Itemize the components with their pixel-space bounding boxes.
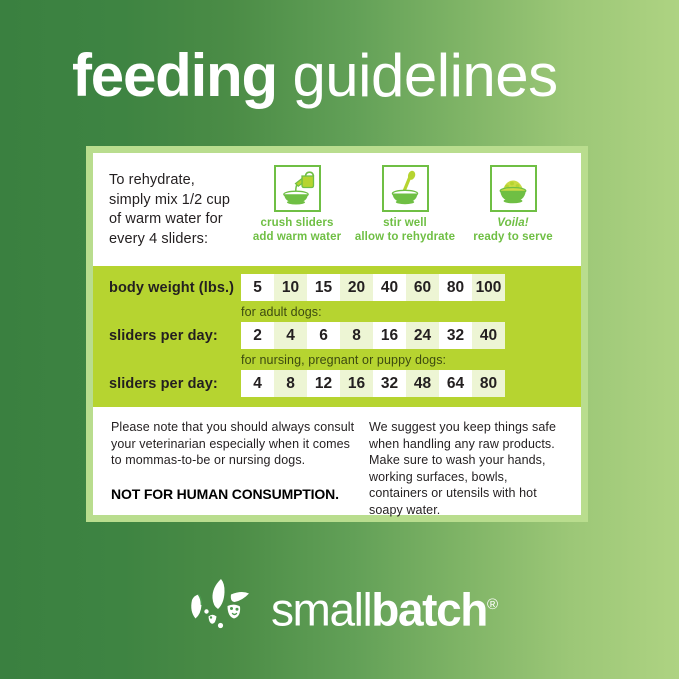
table-cell: 2 <box>241 322 274 349</box>
table-cell: 80 <box>439 274 472 301</box>
footer-left-column: Please note that you should always consu… <box>111 419 369 505</box>
safety-note: We suggest you keep things safe when han… <box>369 419 567 518</box>
table-cell: 48 <box>406 370 439 397</box>
step-1-caption: crush sliders add warm water <box>253 217 341 244</box>
vet-note: Please note that you should always consu… <box>111 419 359 469</box>
table-cell: 16 <box>373 322 406 349</box>
adult-dogs-caption: for adult dogs: <box>241 305 322 319</box>
rehydrate-instructions: To rehydrate, simply mix 1/2 cup of warm… <box>109 165 239 249</box>
table-row-body-weight: body weight (lbs.) 5 10 15 20 40 60 80 1… <box>93 273 581 302</box>
watering-can-pouring-into-bowl-icon <box>277 169 317 209</box>
full-food-bowl-icon <box>493 169 533 209</box>
body-weight-cells: 5 10 15 20 40 60 80 100 <box>241 274 505 301</box>
step-crush-sliders: crush sliders add warm water <box>243 165 351 244</box>
table-cell: 40 <box>373 274 406 301</box>
step-3-caption-line2: ready to serve <box>473 231 552 245</box>
table-cell: 80 <box>472 370 505 397</box>
page-title: feeding guidelines <box>72 43 632 109</box>
table-cell: 40 <box>472 322 505 349</box>
table-cell: 100 <box>472 274 505 301</box>
step-2-caption-line1: stir well <box>355 217 455 231</box>
table-cell: 6 <box>307 322 340 349</box>
step-stir-well: stir well allow to rehydrate <box>351 165 459 244</box>
table-cell: 64 <box>439 370 472 397</box>
step-ready-to-serve: Voila! ready to serve <box>459 165 567 244</box>
row-label-adult-sliders: sliders per day: <box>93 328 241 344</box>
feeding-table: body weight (lbs.) 5 10 15 20 40 60 80 1… <box>93 266 581 407</box>
row-label-nursing-sliders: sliders per day: <box>93 376 241 392</box>
table-row-adult-sliders: sliders per day: 2 4 6 8 16 24 32 40 <box>93 321 581 350</box>
feeding-guidelines-card: To rehydrate, simply mix 1/2 cup of warm… <box>86 146 588 522</box>
card-footer-notes: Please note that you should always consu… <box>93 407 581 515</box>
table-cell: 8 <box>274 370 307 397</box>
table-cell: 32 <box>439 322 472 349</box>
table-cell: 24 <box>406 322 439 349</box>
rehydrate-section: To rehydrate, simply mix 1/2 cup of warm… <box>93 153 581 266</box>
step-1-caption-line1: crush sliders <box>253 217 341 231</box>
table-cell: 4 <box>274 322 307 349</box>
steps-icon-row: crush sliders add warm water <box>239 165 571 244</box>
registered-trademark-mark: ® <box>487 596 498 613</box>
card-inner: To rehydrate, simply mix 1/2 cup of warm… <box>93 153 581 515</box>
table-cell: 4 <box>241 370 274 397</box>
human-consumption-warning: NOT FOR HUMAN CONSUMPTION. <box>111 486 359 503</box>
adult-sliders-cells: 2 4 6 8 16 24 32 40 <box>241 322 505 349</box>
brand-name-light: small <box>271 583 371 635</box>
page-title-bold: feeding <box>72 42 277 109</box>
table-cell: 32 <box>373 370 406 397</box>
step-3-caption-line1: Voila! <box>473 217 552 231</box>
table-cell: 10 <box>274 274 307 301</box>
step-1-caption-line2: add warm water <box>253 231 341 245</box>
step-2-caption-line2: allow to rehydrate <box>355 231 455 245</box>
table-cell: 20 <box>340 274 373 301</box>
brand-logo: smallbatch® <box>0 562 679 652</box>
nursing-caption-row: for nursing, pregnant or puppy dogs: <box>93 350 581 369</box>
table-cell: 5 <box>241 274 274 301</box>
table-cell: 12 <box>307 370 340 397</box>
adult-caption-row: for adult dogs: <box>93 302 581 321</box>
table-cell: 8 <box>340 322 373 349</box>
step-2-caption: stir well allow to rehydrate <box>355 217 455 244</box>
spoon-in-bowl-icon <box>385 169 425 209</box>
page-title-light: guidelines <box>292 42 557 109</box>
table-row-nursing-sliders: sliders per day: 4 8 12 16 32 48 64 80 <box>93 369 581 398</box>
table-cell: 60 <box>406 274 439 301</box>
brand-name-bold: batch <box>371 583 487 635</box>
step-2-icon-box <box>382 165 429 212</box>
row-label-body-weight: body weight (lbs.) <box>93 280 241 296</box>
step-3-icon-box <box>490 165 537 212</box>
table-cell: 15 <box>307 274 340 301</box>
table-cell: 16 <box>340 370 373 397</box>
step-3-caption: Voila! ready to serve <box>473 217 552 244</box>
step-1-icon-box <box>274 165 321 212</box>
nursing-sliders-cells: 4 8 12 16 32 48 64 80 <box>241 370 505 397</box>
smallbatch-pet-faces-logo-icon <box>181 573 267 635</box>
brand-wordmark: smallbatch® <box>271 582 498 632</box>
nursing-dogs-caption: for nursing, pregnant or puppy dogs: <box>241 353 446 367</box>
footer-right-column: We suggest you keep things safe when han… <box>369 419 567 505</box>
